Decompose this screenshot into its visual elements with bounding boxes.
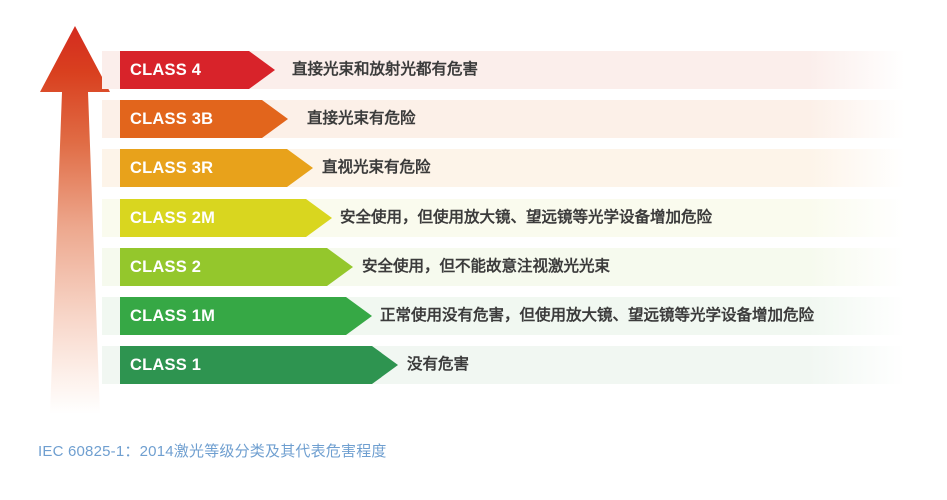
class-row: CLASS 2安全使用，但不能故意注视激光光束	[102, 248, 905, 286]
class-row: CLASS 4直接光束和放射光都有危害	[102, 51, 905, 89]
class-hazard-description: 安全使用，但使用放大镜、望远镜等光学设备增加危险	[340, 199, 712, 237]
class-hazard-description: 直接光束和放射光都有危害	[292, 51, 478, 89]
laser-class-hazard-figure: CLASS 4直接光束和放射光都有危害CLASS 3B直接光束有危险CLASS …	[0, 0, 947, 500]
class-row-list: CLASS 4直接光束和放射光都有危害CLASS 3B直接光束有危险CLASS …	[0, 0, 947, 420]
class-row: CLASS 1没有危害	[102, 346, 905, 384]
class-row: CLASS 1M正常使用没有危害，但使用放大镜、望远镜等光学设备增加危险	[102, 297, 905, 335]
figure-caption: IEC 60825-1：2014激光等级分类及其代表危害程度	[38, 440, 387, 461]
class-label: CLASS 3R	[130, 149, 213, 187]
class-label: CLASS 2M	[130, 199, 215, 237]
class-hazard-description: 直接光束有危险	[307, 100, 416, 138]
class-label: CLASS 1	[130, 346, 201, 384]
class-hazard-description: 没有危害	[407, 346, 469, 384]
class-row: CLASS 3R直视光束有危险	[102, 149, 905, 187]
class-row: CLASS 3B直接光束有危险	[102, 100, 905, 138]
class-label: CLASS 2	[130, 248, 201, 286]
class-row: CLASS 2M安全使用，但使用放大镜、望远镜等光学设备增加危险	[102, 199, 905, 237]
class-hazard-description: 直视光束有危险	[322, 149, 431, 187]
class-hazard-description: 安全使用，但不能故意注视激光光束	[362, 248, 610, 286]
class-hazard-description: 正常使用没有危害，但使用放大镜、望远镜等光学设备增加危险	[380, 297, 814, 335]
class-label: CLASS 1M	[130, 297, 215, 335]
class-label: CLASS 3B	[130, 100, 213, 138]
class-label: CLASS 4	[130, 51, 201, 89]
